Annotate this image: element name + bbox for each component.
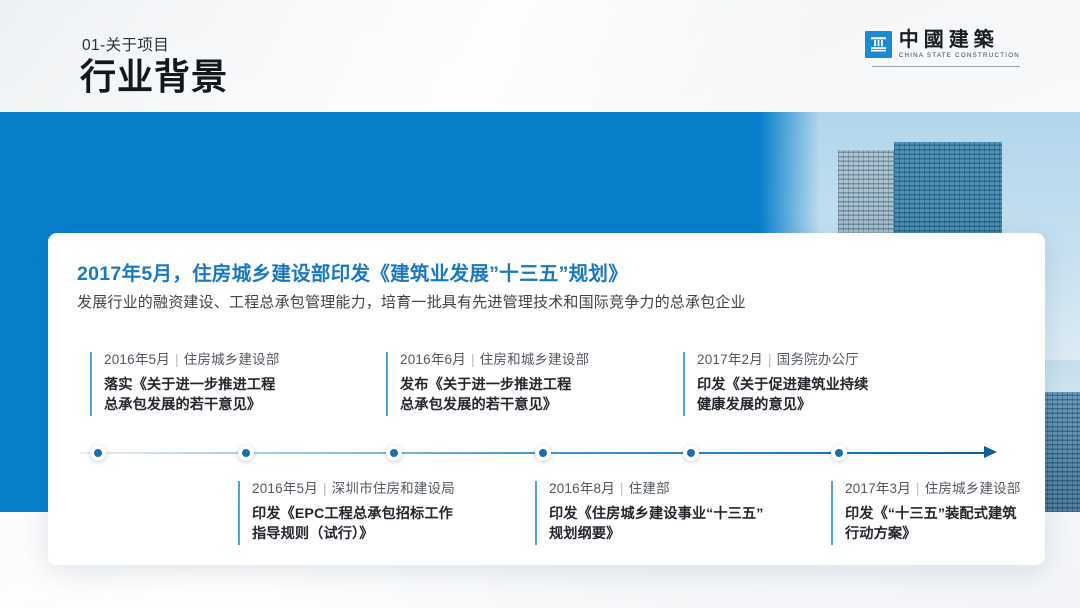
timeline-item-date: 2016年5月: [252, 481, 318, 496]
timeline-item-desc: 印发《EPC工程总承包招标工作 指导规则（试行）》: [252, 504, 455, 544]
timeline-item-meta: 2016年5月|深圳市住房和建设局: [252, 481, 455, 497]
timeline-item[interactable]: 2016年6月|住房和城乡建设部 发布《关于进一步推进工程 总承包发展的若干意见…: [386, 352, 589, 416]
timeline-item-meta: 2017年3月|住房城乡建设部: [845, 481, 1021, 497]
timeline-dot[interactable]: [90, 445, 106, 461]
timeline-dot[interactable]: [386, 445, 402, 461]
timeline-item-meta: 2016年8月|住建部: [549, 481, 763, 497]
timeline-item-desc: 印发《“十三五”装配式建筑 行动方案》: [845, 504, 1021, 544]
timeline-item-date: 2016年8月: [549, 481, 615, 496]
page-title: 行业背景: [80, 57, 228, 97]
brand-logo: 中國建築 CHINA STATE CONSTRUCTION: [865, 27, 1020, 61]
timeline-dot[interactable]: [831, 445, 847, 461]
section-eyebrow: 01-关于项目: [82, 33, 169, 55]
timeline-dot[interactable]: [238, 445, 254, 461]
meta-separator: |: [471, 352, 475, 367]
timeline-item-org: 住房城乡建设部: [925, 481, 1021, 496]
china-state-construction-logo-icon: [865, 31, 892, 58]
timeline-item-meta: 2016年5月|住房城乡建设部: [104, 352, 280, 368]
timeline-item-org: 国务院办公厅: [777, 352, 859, 367]
timeline: 2016年5月|住房城乡建设部 落实《关于进一步推进工程 总承包发展的若干意见》…: [48, 233, 1045, 565]
slide-root: 01-关于项目 行业背景 中國建築 CHINA STATE CONSTRUCTI…: [0, 0, 1080, 608]
timeline-item-org: 住建部: [629, 481, 670, 496]
meta-separator: |: [768, 352, 772, 367]
timeline-item-desc: 发布《关于进一步推进工程 总承包发展的若干意见》: [400, 375, 589, 415]
timeline-item-date: 2016年6月: [400, 352, 466, 367]
meta-separator: |: [620, 481, 624, 496]
timeline-item[interactable]: 2017年2月|国务院办公厅 印发《关于促进建筑业持续 健康发展的意见》: [683, 352, 868, 416]
timeline-item-meta: 2017年2月|国务院办公厅: [697, 352, 868, 368]
brand-name-en: CHINA STATE CONSTRUCTION: [899, 52, 1020, 59]
logo-underline: [872, 66, 1020, 67]
timeline-item-desc: 印发《关于促进建筑业持续 健康发展的意见》: [697, 375, 868, 415]
timeline-dot[interactable]: [535, 445, 551, 461]
timeline-item[interactable]: 2016年5月|深圳市住房和建设局 印发《EPC工程总承包招标工作 指导规则（试…: [238, 481, 455, 545]
timeline-item-org: 深圳市住房和建设局: [332, 481, 455, 496]
timeline-item-meta: 2016年6月|住房和城乡建设部: [400, 352, 589, 368]
timeline-item-date: 2017年3月: [845, 481, 911, 496]
timeline-item[interactable]: 2016年8月|住建部 印发《住房城乡建设事业“十三五” 规划纲要》: [535, 481, 763, 545]
meta-separator: |: [175, 352, 179, 367]
content-card: 2017年5月，住房城乡建设部印发《建筑业发展”十三五”规划》 发展行业的融资建…: [48, 233, 1045, 565]
timeline-item-date: 2017年2月: [697, 352, 763, 367]
timeline-item-org: 住房和城乡建设部: [480, 352, 590, 367]
timeline-item-desc: 落实《关于进一步推进工程 总承包发展的若干意见》: [104, 375, 280, 415]
brand-logo-text: 中國建築 CHINA STATE CONSTRUCTION: [899, 29, 1020, 59]
meta-separator: |: [323, 481, 327, 496]
brand-name-cn: 中國建築: [899, 29, 1020, 50]
timeline-item[interactable]: 2016年5月|住房城乡建设部 落实《关于进一步推进工程 总承包发展的若干意见》: [90, 352, 280, 416]
meta-separator: |: [916, 481, 920, 496]
timeline-item-date: 2016年5月: [104, 352, 170, 367]
timeline-item-org: 住房城乡建设部: [184, 352, 280, 367]
arrow-right-icon: [984, 446, 997, 458]
slide-header: 01-关于项目 行业背景 中國建築 CHINA STATE CONSTRUCTI…: [0, 0, 1080, 112]
timeline-dot[interactable]: [683, 445, 699, 461]
timeline-item[interactable]: 2017年3月|住房城乡建设部 印发《“十三五”装配式建筑 行动方案》: [831, 481, 1021, 545]
timeline-item-desc: 印发《住房城乡建设事业“十三五” 规划纲要》: [549, 504, 763, 544]
